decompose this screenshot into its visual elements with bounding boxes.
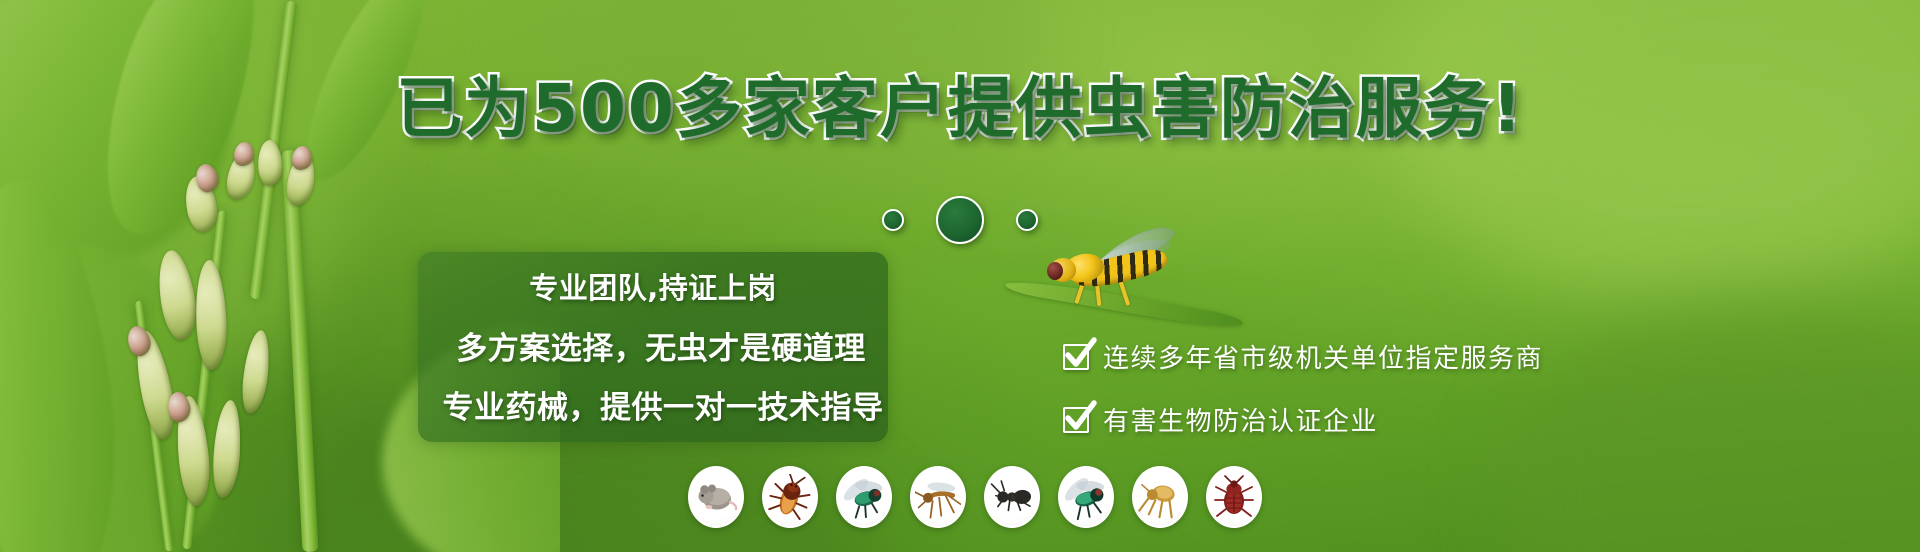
dot-small-icon (1016, 209, 1038, 231)
cockroach-icon[interactable] (762, 466, 818, 528)
dot-small-icon (882, 209, 904, 231)
blowfly-icon[interactable] (1058, 466, 1114, 528)
certification-bullets: 连续多年省市级机关单位指定服务商 有害生物防治认证企业 (1063, 338, 1543, 438)
ant-icon[interactable] (984, 466, 1040, 528)
banner-headline-text: 已为500多家客户提供虫害防治服务! (396, 70, 1524, 147)
panel-line-2: 多方案选择，无虫才是硬道理 (426, 323, 896, 368)
mosquito-icon[interactable] (910, 466, 966, 528)
selling-points-panel: 专业团队,持证上岗 多方案选择，无虫才是硬道理 专业药械，提供一对一技术指导 (418, 252, 888, 442)
bullet-item: 有害生物防治认证企业 (1063, 401, 1543, 438)
bedbug-icon[interactable] (1206, 466, 1262, 528)
leaf-shape (1004, 275, 1243, 332)
background-bokeh-blob (1380, 0, 1920, 300)
decorative-dots (0, 196, 1920, 244)
bullet-item: 连续多年省市级机关单位指定服务商 (1063, 338, 1543, 375)
pest-icon-row (688, 466, 1262, 528)
banner-headline: 已为500多家客户提供虫害防治服务! (0, 76, 1920, 142)
hoverfly-illustration (1034, 240, 1214, 320)
checkbox-check-icon (1063, 344, 1089, 370)
checkbox-check-icon (1063, 407, 1089, 433)
fly-eye (1047, 262, 1063, 280)
panel-line-1: 专业团队,持证上岗 (418, 265, 888, 307)
mouse-icon[interactable] (688, 466, 744, 528)
bullet-label: 连续多年省市级机关单位指定服务商 (1103, 338, 1543, 375)
panel-line-3: 专业药械，提供一对一技术指导 (428, 382, 898, 427)
background-bokeh-blob (1500, 300, 1920, 552)
flea-icon[interactable] (1132, 466, 1188, 528)
fly-icon[interactable] (836, 466, 892, 528)
dot-large-icon (936, 196, 984, 244)
pest-control-banner: 已为500多家客户提供虫害防治服务! 专业团队,持证上岗 多方案选择，无虫才是硬… (0, 0, 1920, 552)
bullet-label: 有害生物防治认证企业 (1103, 401, 1378, 438)
